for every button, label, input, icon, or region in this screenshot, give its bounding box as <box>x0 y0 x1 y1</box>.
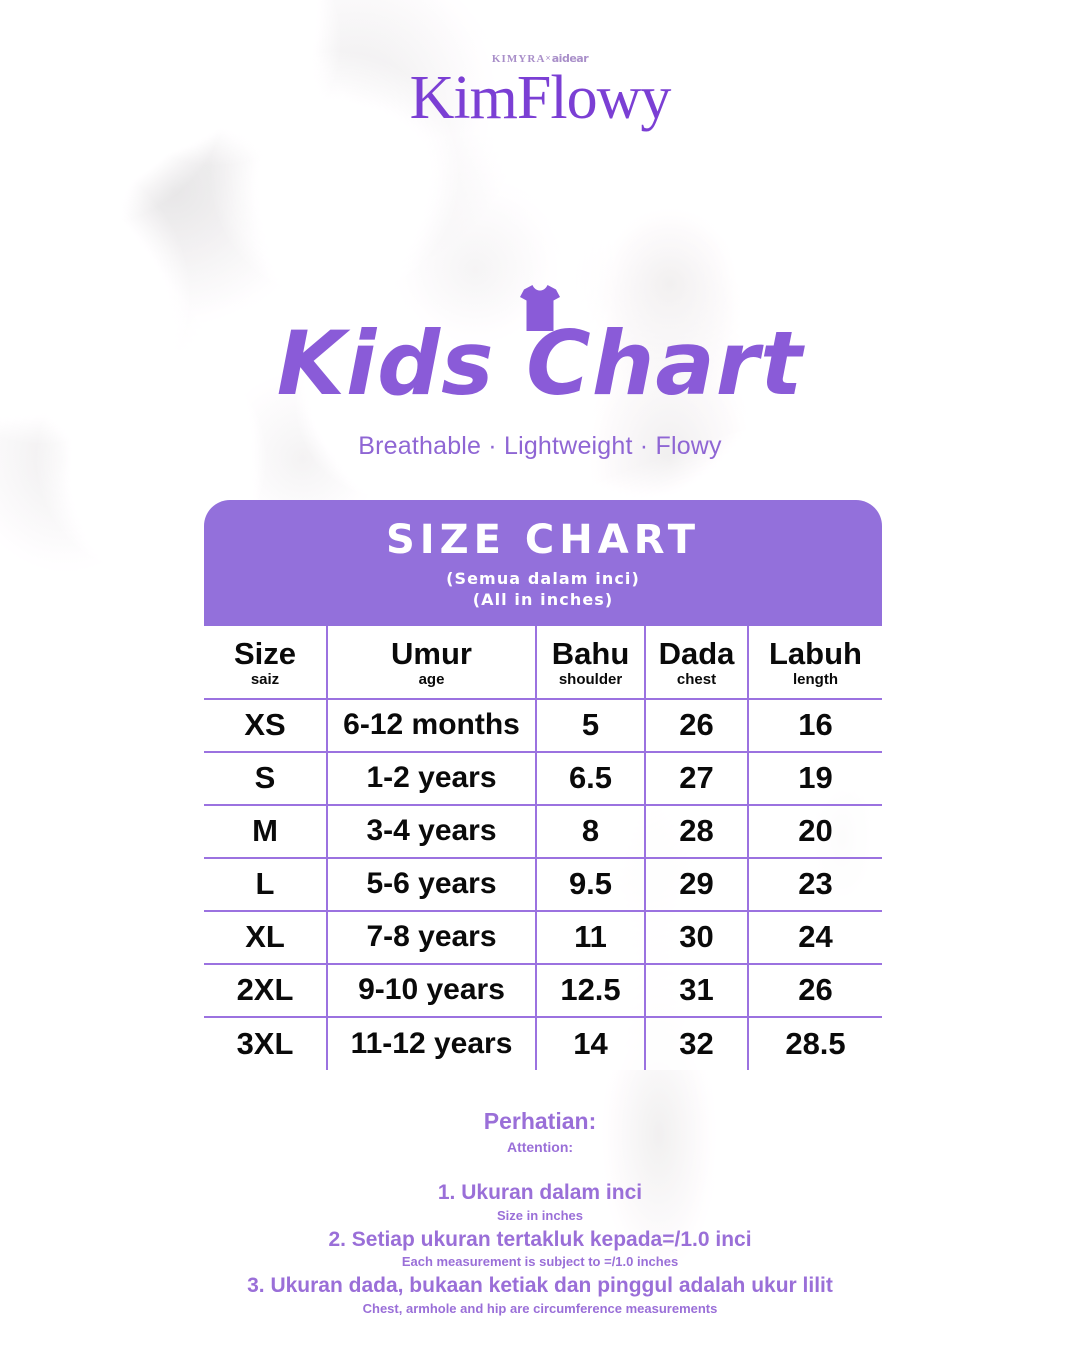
column-header-chest-main: Dada <box>648 638 745 671</box>
cell-shoulder: 14 <box>536 1017 645 1070</box>
table-row: XS 6-12 months 5 26 16 <box>204 699 882 752</box>
column-header-shoulder: Bahu shoulder <box>536 626 645 698</box>
size-chart-page: KIMYRA×aidear KimFlowy Kids Chart Breath… <box>0 0 1080 1350</box>
column-header-shoulder-sub: shoulder <box>539 672 642 688</box>
table-header-row: Size saiz Umur age Bahu shoulder Dada <box>204 626 882 698</box>
cell-shoulder: 9.5 <box>536 858 645 911</box>
column-header-size-main: Size <box>206 638 324 671</box>
size-chart-units-my: (Semua dalam inci) <box>204 568 882 589</box>
note-1-en: Size in inches <box>0 1208 1080 1224</box>
cell-age: 7-8 years <box>327 911 536 964</box>
cell-shoulder: 11 <box>536 911 645 964</box>
note-3-en: Chest, armhole and hip are circumference… <box>0 1301 1080 1317</box>
cell-length: 20 <box>748 805 882 858</box>
cell-shoulder: 12.5 <box>536 964 645 1017</box>
cell-chest: 28 <box>645 805 748 858</box>
cell-size: 3XL <box>204 1017 327 1070</box>
column-header-chest: Dada chest <box>645 626 748 698</box>
table-row: 3XL 11-12 years 14 32 28.5 <box>204 1017 882 1070</box>
cell-chest: 27 <box>645 752 748 805</box>
cell-chest: 26 <box>645 699 748 752</box>
table-body: XS 6-12 months 5 26 16 S 1-2 years 6.5 2… <box>204 699 882 1070</box>
cell-age: 6-12 months <box>327 699 536 752</box>
note-2-en: Each measurement is subject to =/1.0 inc… <box>0 1254 1080 1270</box>
cell-size: 2XL <box>204 964 327 1017</box>
cell-length: 19 <box>748 752 882 805</box>
note-3-my: 3. Ukuran dada, bukaan ketiak dan pinggu… <box>0 1273 1080 1299</box>
table-row: XL 7-8 years 11 30 24 <box>204 911 882 964</box>
cell-size: XL <box>204 911 327 964</box>
cell-shoulder: 5 <box>536 699 645 752</box>
size-chart-table: Size saiz Umur age Bahu shoulder Dada <box>204 626 882 1069</box>
note-1-my: 1. Ukuran dalam inci <box>0 1180 1080 1206</box>
cell-size: M <box>204 805 327 858</box>
note-item: 1. Ukuran dalam inci Size in inches <box>0 1180 1080 1224</box>
column-header-length-sub: length <box>751 672 880 688</box>
column-header-shoulder-main: Bahu <box>539 638 642 671</box>
size-chart-title: SIZE CHART <box>204 518 882 562</box>
table-row: S 1-2 years 6.5 27 19 <box>204 752 882 805</box>
cell-length: 23 <box>748 858 882 911</box>
cell-chest: 30 <box>645 911 748 964</box>
cell-age: 9-10 years <box>327 964 536 1017</box>
size-chart-card: SIZE CHART (Semua dalam inci) (All in in… <box>204 500 882 1070</box>
size-chart-units-note: (Semua dalam inci) (All in inches) <box>204 568 882 610</box>
cell-age: 1-2 years <box>327 752 536 805</box>
cell-shoulder: 8 <box>536 805 645 858</box>
cell-length: 26 <box>748 964 882 1017</box>
page-title: Kids Chart <box>0 318 1080 410</box>
attention-notes: Perhatian: Attention: 1. Ukuran dalam in… <box>0 1108 1080 1317</box>
note-2-my: 2. Setiap ukuran tertakluk kepada=/1.0 i… <box>0 1227 1080 1253</box>
cell-chest: 31 <box>645 964 748 1017</box>
notes-spacer <box>0 1155 1080 1177</box>
table-row: L 5-6 years 9.5 29 23 <box>204 858 882 911</box>
cell-age: 3-4 years <box>327 805 536 858</box>
column-header-size: Size saiz <box>204 626 327 698</box>
cell-age: 11-12 years <box>327 1017 536 1070</box>
cell-chest: 29 <box>645 858 748 911</box>
cell-chest: 32 <box>645 1017 748 1070</box>
table-header: Size saiz Umur age Bahu shoulder Dada <box>204 626 882 698</box>
hero-tagline: Breathable · Lightweight · Flowy <box>0 432 1080 461</box>
column-header-length-main: Labuh <box>751 638 880 671</box>
cell-shoulder: 6.5 <box>536 752 645 805</box>
column-header-age: Umur age <box>327 626 536 698</box>
cell-length: 24 <box>748 911 882 964</box>
column-header-length: Labuh length <box>748 626 882 698</box>
notes-heading-my: Perhatian: <box>0 1108 1080 1136</box>
note-item: 2. Setiap ukuran tertakluk kepada=/1.0 i… <box>0 1227 1080 1271</box>
column-header-chest-sub: chest <box>648 672 745 688</box>
brand-block: KIMYRA×aidear KimFlowy <box>0 52 1080 129</box>
notes-heading-en: Attention: <box>0 1139 1080 1156</box>
table-row: M 3-4 years 8 28 20 <box>204 805 882 858</box>
cell-length: 16 <box>748 699 882 752</box>
column-header-age-main: Umur <box>330 638 533 671</box>
size-chart-header: SIZE CHART (Semua dalam inci) (All in in… <box>204 500 882 626</box>
column-header-size-sub: saiz <box>206 672 324 688</box>
table-row: 2XL 9-10 years 12.5 31 26 <box>204 964 882 1017</box>
cell-size: XS <box>204 699 327 752</box>
cell-size: S <box>204 752 327 805</box>
cell-size: L <box>204 858 327 911</box>
brand-name: KimFlowy <box>0 67 1080 129</box>
size-chart-units-en: (All in inches) <box>204 589 882 610</box>
cell-length: 28.5 <box>748 1017 882 1070</box>
note-item: 3. Ukuran dada, bukaan ketiak dan pinggu… <box>0 1273 1080 1317</box>
cell-age: 5-6 years <box>327 858 536 911</box>
column-header-age-sub: age <box>330 672 533 688</box>
